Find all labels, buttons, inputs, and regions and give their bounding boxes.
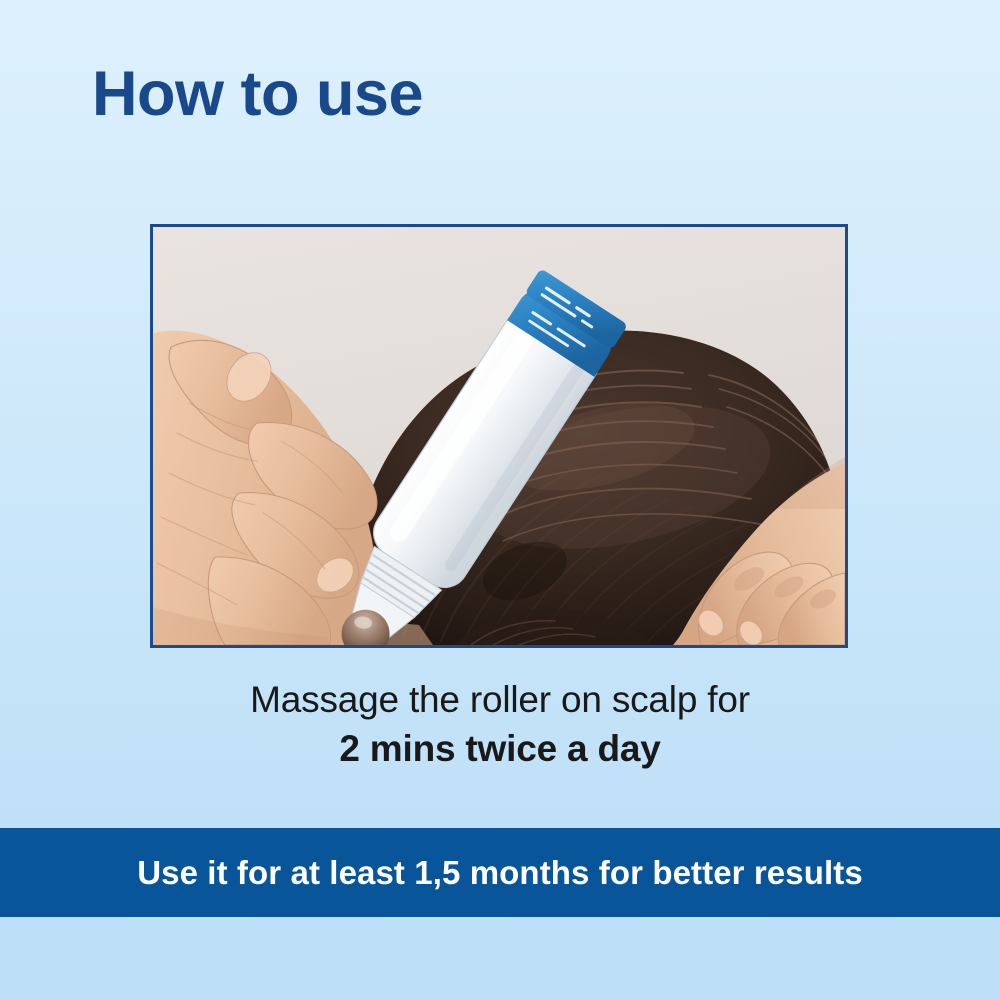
caption-line-2: 2 mins twice a day bbox=[0, 725, 1000, 772]
bottom-banner: Use it for at least 1,5 months for bette… bbox=[0, 828, 1000, 917]
instruction-caption: Massage the roller on scalp for 2 mins t… bbox=[0, 676, 1000, 773]
instruction-photo-frame bbox=[150, 224, 848, 648]
instruction-photo bbox=[153, 227, 845, 645]
bottom-banner-text: Use it for at least 1,5 months for bette… bbox=[137, 854, 863, 892]
page-title: How to use bbox=[92, 58, 423, 130]
scalp-application-illustration bbox=[153, 227, 845, 645]
how-to-use-poster: How to use bbox=[0, 0, 1000, 1000]
caption-line-1: Massage the roller on scalp for bbox=[0, 676, 1000, 723]
